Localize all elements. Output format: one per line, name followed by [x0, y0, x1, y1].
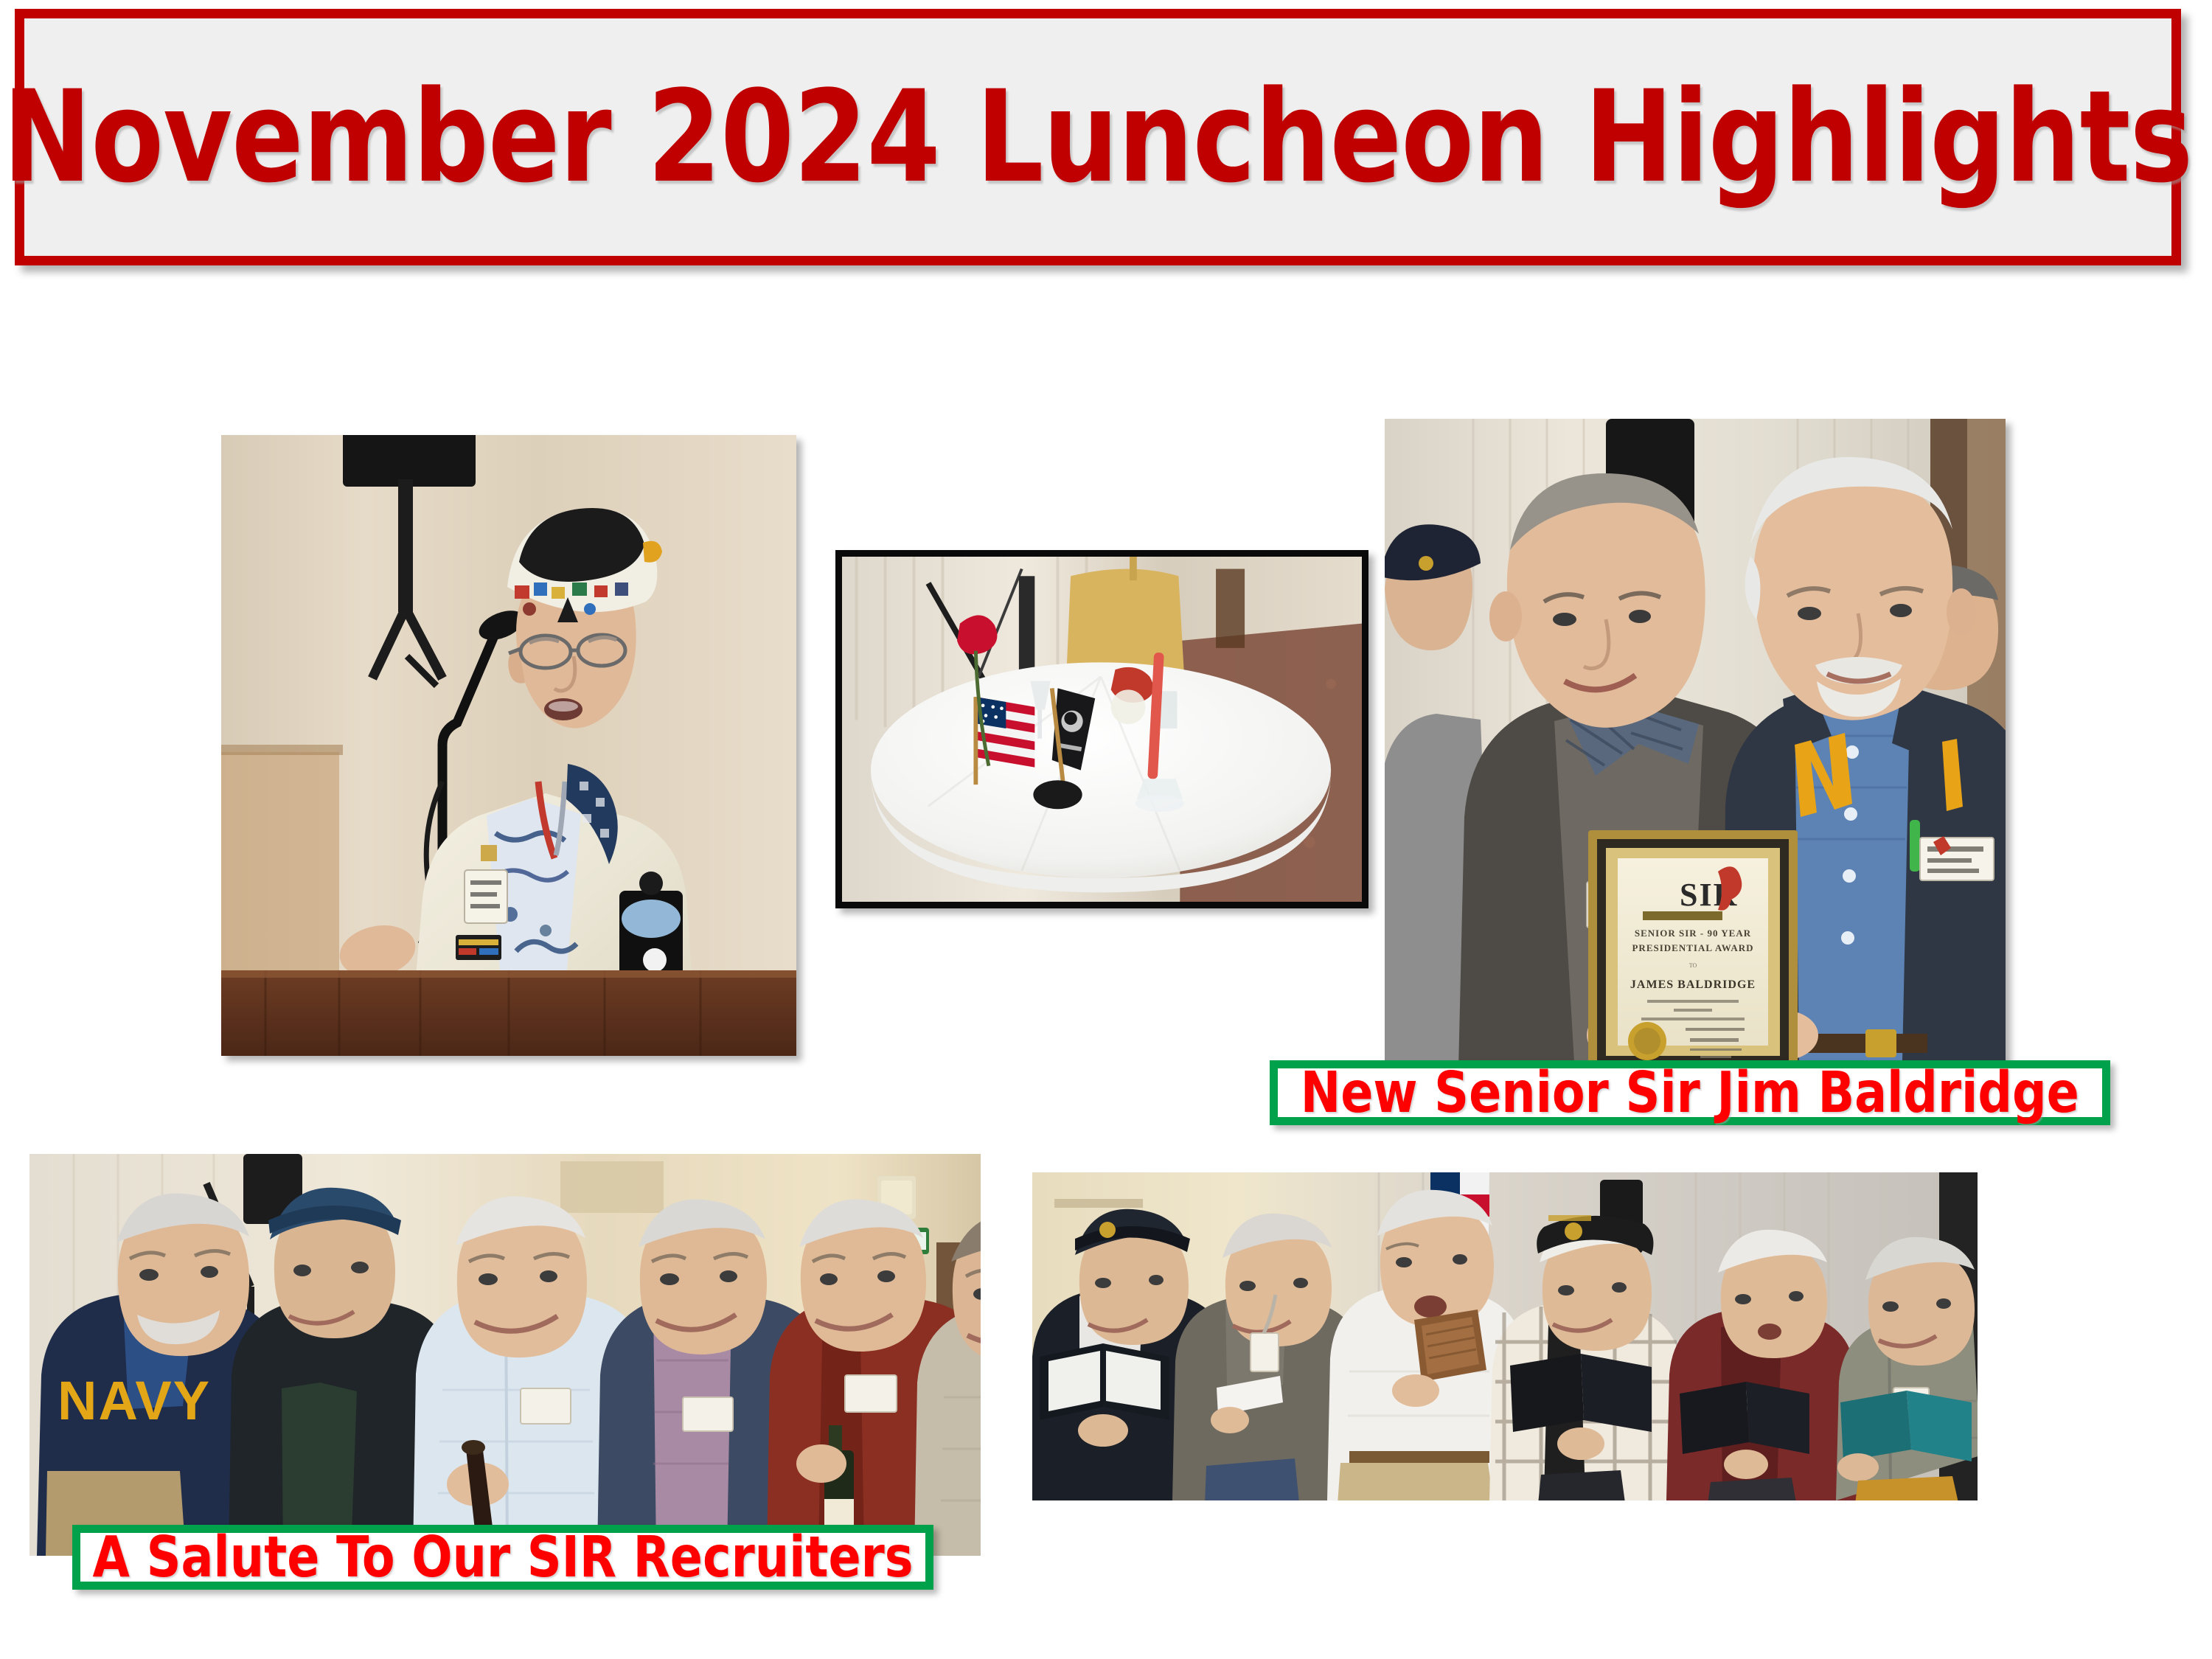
photo-sir-recruiters: NAVY: [29, 1154, 981, 1556]
caption-sir-recruiters: A Salute To Our SIR Recruiters: [72, 1525, 933, 1590]
navy-jacket-text: NAVY: [58, 1370, 211, 1431]
award-certificate: SIR SENIOR SIR - 90 YEAR PRESIDENTIAL AW…: [1588, 830, 1798, 1069]
missing-man-table-image: [842, 557, 1362, 902]
photo-missing-man-table: [835, 550, 1368, 908]
speaker-at-podium-image: [221, 435, 796, 1056]
svg-text:TO: TO: [1689, 962, 1697, 969]
svg-text:JAMES BALDRIDGE: JAMES BALDRIDGE: [1630, 978, 1756, 991]
caption-award-text: New Senior Sir Jim Baldridge: [1301, 1065, 2079, 1121]
page-title: November 2024 Luncheon Highlights: [3, 74, 2193, 201]
svg-text:SENIOR SIR - 90 YEAR: SENIOR SIR - 90 YEAR: [1635, 928, 1751, 939]
photo-veterans-singing: [1032, 1172, 1978, 1500]
caption-recruiters-text: A Salute To Our SIR Recruiters: [92, 1529, 913, 1586]
veterans-singing-image: [1032, 1172, 1978, 1500]
slide-title-banner: November 2024 Luncheon Highlights: [15, 9, 2181, 265]
photo-award-presentation: SIR SENIOR SIR - 90 YEAR PRESIDENTIAL AW…: [1385, 419, 2006, 1069]
caption-new-senior-sir: New Senior Sir Jim Baldridge: [1270, 1060, 2110, 1125]
svg-text:PRESIDENTIAL AWARD: PRESIDENTIAL AWARD: [1632, 942, 1753, 953]
photo-speaker-at-podium: [221, 435, 796, 1056]
sir-recruiters-image: NAVY: [29, 1154, 981, 1556]
award-presentation-image: SIR SENIOR SIR - 90 YEAR PRESIDENTIAL AW…: [1385, 419, 2006, 1069]
